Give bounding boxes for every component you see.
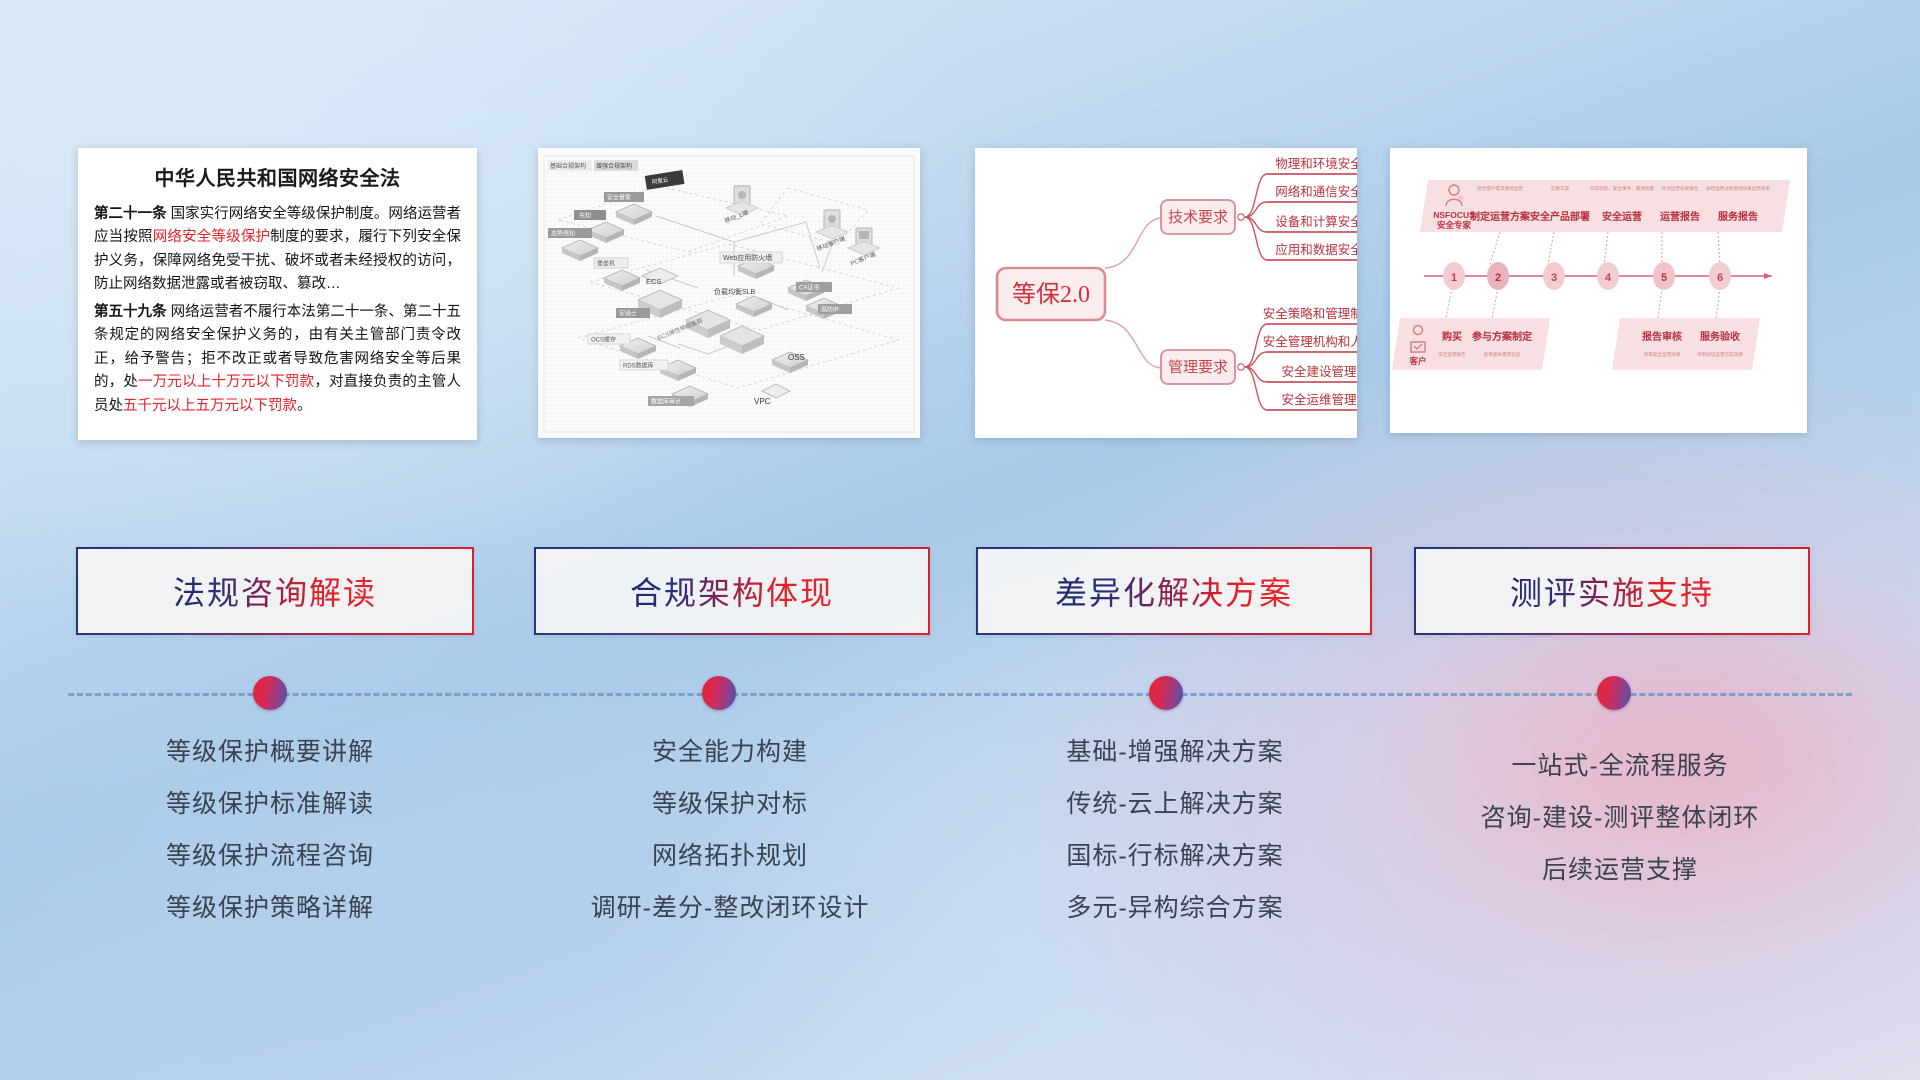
arch-label-waf: Web应用防火墙 — [720, 252, 782, 263]
card-dengbao-mindmap[interactable]: 等保2.0 技术要求 物理和环境 — [975, 148, 1357, 438]
arch-label-anqishi: 安骑士 — [616, 308, 650, 318]
article-21-label: 第二十一条 — [94, 206, 167, 222]
mindmap-leaf-2: 网络和通信安全 — [1275, 184, 1357, 199]
list-item: 等级保护标准解读 — [60, 792, 480, 817]
svg-text:ECS: ECS — [646, 277, 661, 286]
list-item: 等级保护对标 — [510, 792, 950, 817]
law-document: 中华人民共和国网络安全法 第二十一条 国家实行网络安全等级保护制度。网络运营者应… — [78, 148, 477, 426]
flow-step-5: 5 — [1661, 272, 1667, 284]
mindmap-root-node: 等保2.0 — [997, 268, 1105, 320]
law-article-21: 第二十一条 国家实行网络安全等级保护制度。网络运营者应当按照网络安全等级保护制度… — [94, 203, 461, 297]
architecture-svg: 基础合规架构 增强合规架构 阿里云 安全管家 先知 态势感知 堡垒机 ECS 安… — [538, 148, 920, 438]
flow-bottom-band-right — [1612, 318, 1760, 370]
flow-bottom-caption-1: 安全运营报告 — [1438, 351, 1466, 358]
svg-text:安骑士: 安骑士 — [619, 310, 637, 318]
mindmap-leaf-6: 安全管理机构和人员 — [1263, 334, 1357, 349]
nsfocus-expert-line2: 安全专家 — [1437, 220, 1472, 230]
arch-label-baoleiji: 堡垒机 — [594, 258, 628, 268]
list-item: 后续运营支撑 — [1400, 858, 1840, 883]
arch-label-ecs: ECS — [646, 277, 661, 286]
arch-label-rds: RDS数据库 — [620, 360, 668, 370]
flow-bottom-label-2: 参与方案制定 — [1472, 330, 1532, 343]
article-59-text-3: 。 — [297, 398, 312, 414]
section-title-label-3: 差异化解决方案 — [1055, 568, 1293, 614]
slide-page: 中华人民共和国网络安全法 第二十一条 国家实行网络安全等级保护制度。网络运营者应… — [0, 0, 1920, 1080]
list-item: 安全能力构建 — [510, 740, 950, 765]
list-item: 等级保护概要讲解 — [60, 740, 480, 765]
flow-bottom-label-1: 购买 — [1442, 330, 1462, 343]
flow-top-label-5: 服务报告 — [1718, 210, 1758, 223]
flow-top-caption-2: 实施方案 — [1551, 185, 1570, 192]
timeline-dot-1[interactable] — [253, 676, 287, 710]
mindmap: 等保2.0 技术要求 物理和环境 — [975, 148, 1357, 438]
arch-label-ca: CA证书 — [796, 282, 832, 292]
list-item: 国标-行标解决方案 — [955, 844, 1395, 869]
feature-list-4: 一站式-全流程服务 咨询-建设-测评整体闭环 后续运营支撑 — [1400, 754, 1840, 910]
svg-text:态势感知: 态势感知 — [551, 230, 575, 238]
timeline-dashed-line — [68, 693, 1852, 696]
service-flow-diagram: 1 2 3 4 5 6 NSFOCUS 安全专家 — [1390, 148, 1807, 433]
flow-step-2: 2 — [1495, 272, 1501, 284]
arch-label-xianzhi: 先知 — [574, 210, 606, 220]
feature-lists-row: 等级保护概要讲解 等级保护标准解读 等级保护流程咨询 等级保护策略详解 安全能力… — [0, 740, 1920, 970]
section-title-box-3[interactable]: 差异化解决方案 — [976, 547, 1372, 635]
section-title-label-1: 法规咨询解读 — [173, 568, 377, 614]
list-item: 等级保护策略详解 — [60, 896, 480, 921]
article-59-highlight-1: 一万元以上十万元以下罚款 — [138, 374, 314, 390]
mindmap-branch-mgmt: 管理要求 安全策略和管理制度 安全管理机构和人员 安全建设管理 — [1161, 306, 1357, 410]
svg-text:OCS缓存: OCS缓存 — [591, 336, 616, 344]
svg-text:先知: 先知 — [579, 212, 591, 220]
section-title-box-4[interactable]: 测评实施支持 — [1414, 547, 1810, 635]
customer-label: 客户 — [1408, 356, 1426, 366]
flow-step-4: 4 — [1605, 272, 1612, 284]
list-item: 咨询-建设-测评整体闭环 — [1400, 806, 1840, 831]
card-cybersecurity-law[interactable]: 中华人民共和国网络安全法 第二十一条 国家实行网络安全等级保护制度。网络运营者应… — [78, 148, 477, 440]
arch-label-slb: 负载均衡SLB — [714, 287, 756, 296]
flow-step-1: 1 — [1451, 272, 1457, 284]
timeline-dot-2[interactable] — [702, 676, 736, 710]
card-compliance-architecture[interactable]: 基础合规架构 增强合规架构 阿里云 安全管家 先知 态势感知 堡垒机 ECS 安… — [538, 148, 920, 438]
flow-bottom-caption-4: 评审验证运营方案效果 — [1697, 351, 1743, 358]
mindmap-leaf-7: 安全建设管理 — [1281, 364, 1357, 379]
timeline — [0, 660, 1920, 730]
feature-list-3: 基础-增强解决方案 传统-云上解决方案 国标-行标解决方案 多元-异构综合方案 — [955, 740, 1395, 948]
arch-label-gaofangip: 高防IP — [818, 304, 852, 314]
article-59-highlight-2: 五千元以上五万元以下罚款 — [123, 398, 297, 414]
flow-top-label-2: 安全产品部署 — [1530, 210, 1590, 223]
list-item: 调研-差分-整改闭环设计 — [510, 896, 950, 921]
svg-text:堡垒机: 堡垒机 — [597, 260, 615, 268]
flow-top-caption-3: 日常巡检、安全事件、漏洞处置 — [1590, 185, 1655, 192]
architecture-diagram: 基础合规架构 增强合规架构 阿里云 安全管家 先知 态势感知 堡垒机 ECS 安… — [538, 148, 920, 438]
svg-text:OSS: OSS — [788, 353, 805, 362]
mindmap-branch-tech: 技术要求 物理和环境安全 网络和通信安全 设备和计算安全 应用和 — [1161, 156, 1357, 260]
timeline-dot-3[interactable] — [1149, 676, 1183, 710]
image-cards-row: 中华人民共和国网络安全法 第二十一条 国家实行网络安全等级保护制度。网络运营者应… — [0, 148, 1920, 448]
section-title-row: 法规咨询解读 合规架构体现 差异化解决方案 测评实施支持 — [0, 547, 1920, 639]
list-item: 传统-云上解决方案 — [955, 792, 1395, 817]
section-title-label-4: 测评实施支持 — [1510, 568, 1714, 614]
arch-label-anquanguanjia: 安全管家 — [604, 192, 644, 202]
arch-tab-basic: 基础合规架构 — [548, 160, 592, 171]
mindmap-branch-tech-label: 技术要求 — [1168, 209, 1228, 226]
article-21-highlight: 网络安全等级保护 — [153, 229, 271, 245]
section-title-box-2[interactable]: 合规架构体现 — [534, 547, 930, 635]
flow-top-caption-4: 针对运营效果报告 — [1662, 185, 1699, 192]
article-59-label: 第五十九条 — [94, 304, 167, 320]
nsfocus-expert-line1: NSFOCUS — [1433, 210, 1475, 220]
mindmap-leaf-3: 设备和计算安全 — [1275, 214, 1357, 229]
section-title-label-2: 合规架构体现 — [630, 568, 834, 614]
arch-label-taishiganzhi: 态势感知 — [548, 228, 592, 238]
law-title: 中华人民共和国网络安全法 — [94, 162, 461, 191]
flow-bottom-label-3: 报告审核 — [1642, 330, 1682, 343]
feature-list-2: 安全能力构建 等级保护对标 网络拓扑规划 调研-差分-整改闭环设计 — [510, 740, 950, 948]
arch-label-vpc: VPC — [754, 397, 771, 406]
list-item: 一站式-全流程服务 — [1400, 754, 1840, 779]
flow-top-caption-1: 结合客户需求落地运营 — [1477, 185, 1523, 192]
mindmap-leaf-4: 应用和数据安全 — [1275, 242, 1357, 257]
mindmap-root-label: 等保2.0 — [1012, 281, 1090, 308]
svg-text:安全管家: 安全管家 — [607, 194, 631, 202]
list-item: 等级保护流程咨询 — [60, 844, 480, 869]
flow-top-label-4: 运营报告 — [1660, 210, 1700, 223]
arch-label-oss: OSS — [788, 353, 805, 362]
svg-text:CA证书: CA证书 — [799, 284, 819, 292]
list-item: 基础-增强解决方案 — [955, 740, 1395, 765]
svg-text:Web应用防火墙: Web应用防火墙 — [723, 253, 772, 262]
mindmap-svg: 等保2.0 技术要求 物理和环境 — [975, 148, 1357, 438]
mindmap-leaf-5: 安全策略和管理制度 — [1263, 306, 1357, 321]
mindmap-branch-mgmt-label: 管理要求 — [1168, 359, 1228, 376]
flow-axis-arrow — [1764, 273, 1772, 279]
arch-label-dbaudit: 数据库审计 — [648, 396, 694, 406]
svg-text:增强合规架构: 增强合规架构 — [596, 162, 632, 170]
svg-text:RDS数据库: RDS数据库 — [623, 362, 654, 370]
flow-step-3: 3 — [1551, 272, 1557, 284]
svg-text:VPC: VPC — [754, 397, 771, 406]
service-flow-svg: 1 2 3 4 5 6 NSFOCUS 安全专家 — [1390, 148, 1807, 433]
mindmap-leaf-1: 物理和环境安全 — [1275, 156, 1357, 171]
flow-step-6: 6 — [1717, 272, 1723, 284]
mindmap-leaf-8: 安全运维管理 — [1281, 392, 1357, 407]
feature-list-1: 等级保护概要讲解 等级保护标准解读 等级保护流程咨询 等级保护策略详解 — [60, 740, 480, 948]
flow-bottom-caption-2: 提供基本需求信息 — [1484, 351, 1521, 358]
list-item: 多元-异构综合方案 — [955, 896, 1395, 921]
flow-bottom-label-4: 服务验收 — [1700, 330, 1740, 343]
flow-top-label-1: 制定运营方案 — [1470, 210, 1531, 223]
flow-top-caption-5: 总结运营过程落地效果运营效果 — [1706, 185, 1771, 192]
svg-text:负载均衡SLB: 负载均衡SLB — [714, 287, 756, 296]
timeline-dot-4[interactable] — [1597, 676, 1631, 710]
svg-text:基础合规架构: 基础合规架构 — [550, 162, 586, 170]
card-service-flow[interactable]: 1 2 3 4 5 6 NSFOCUS 安全专家 — [1390, 148, 1807, 433]
flow-top-label-3: 安全运营 — [1602, 210, 1642, 223]
svg-text:高防IP: 高防IP — [821, 306, 839, 314]
arch-tab-enhanced: 增强合规架构 — [594, 160, 638, 171]
arch-label-ocs: OCS缓存 — [588, 334, 630, 344]
flow-bottom-caption-3: 评审安全运营效果 — [1644, 351, 1681, 358]
law-article-59: 第五十九条 网络运营者不履行本法第二十一条、第二十五条规定的网络安全保护义务的，… — [94, 301, 461, 418]
svg-text:数据库审计: 数据库审计 — [651, 398, 681, 406]
section-title-box-1[interactable]: 法规咨询解读 — [76, 547, 474, 635]
list-item: 网络拓扑规划 — [510, 844, 950, 869]
